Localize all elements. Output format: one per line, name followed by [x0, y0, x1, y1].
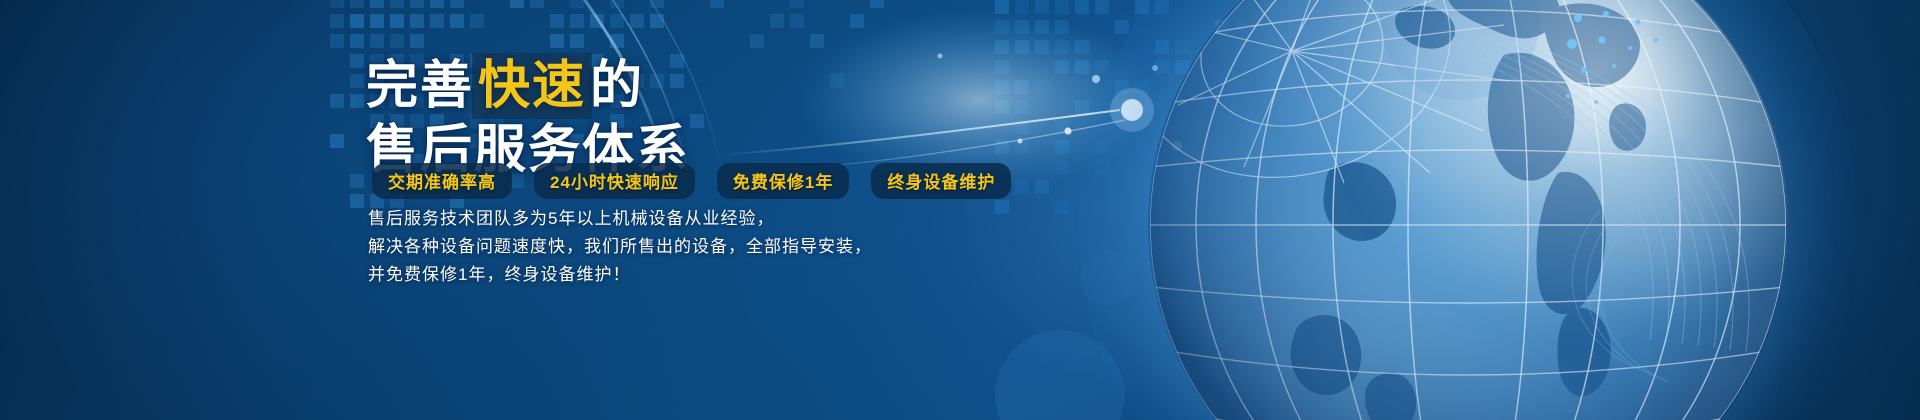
pixel-square	[1055, 0, 1069, 14]
pixel-square	[1155, 40, 1169, 54]
pixel-square	[1055, 200, 1069, 214]
pixel-square	[1095, 0, 1109, 14]
soft-circle-decoration	[1080, 250, 1136, 306]
headline-highlight: 快速	[474, 55, 590, 117]
pixel-square	[1015, 100, 1029, 114]
pixel-square	[1155, 60, 1169, 74]
pixel-square	[1155, 0, 1169, 14]
pixel-square	[1075, 100, 1089, 114]
soft-circle-decoration	[995, 330, 1125, 420]
pixel-square	[1135, 80, 1149, 94]
pixel-square	[1135, 0, 1149, 14]
pixel-square	[1055, 20, 1069, 34]
pixel-square	[1015, 20, 1029, 34]
pixel-square	[1115, 100, 1129, 114]
feature-badge-list: 交期准确率高 24小时快速响应 免费保修1年 终身设备维护	[372, 163, 1011, 199]
pixel-square	[1015, 40, 1029, 54]
pixel-square	[1155, 160, 1169, 174]
pixel-square	[1115, 20, 1129, 34]
pixel-square	[1235, 40, 1249, 54]
pixel-square	[1175, 40, 1189, 54]
pixel-square	[1015, 120, 1029, 134]
feature-badge[interactable]: 24小时快速响应	[534, 163, 695, 199]
pixel-square	[1035, 80, 1049, 94]
pixel-square	[1035, 20, 1049, 34]
pixel-square	[1215, 40, 1229, 54]
banner-content: 完善快速的 售后服务体系 交期准确率高 24小时快速响应 免费保修1年 终身设备…	[0, 0, 1000, 420]
pixel-square	[1135, 100, 1149, 114]
pixel-square	[1055, 120, 1069, 134]
feature-badge[interactable]: 免费保修1年	[717, 163, 849, 199]
soft-circle-decoration	[1380, 0, 1540, 100]
feature-badge[interactable]: 终身设备维护	[871, 163, 1011, 199]
pixel-square	[1015, 180, 1029, 194]
headline-block: 完善快速的 售后服务体系	[366, 58, 1006, 178]
pixel-square	[1075, 60, 1089, 74]
pixel-square	[1095, 160, 1109, 174]
feature-badge[interactable]: 交期准确率高	[372, 163, 512, 199]
description-line: 解决各种设备问题速度快，我们所售出的设备，全部指导安装，	[368, 234, 928, 259]
pixel-square	[1055, 40, 1069, 54]
headline-text-after: 的	[590, 57, 644, 115]
pixel-square	[1055, 140, 1069, 154]
pixel-square	[1175, 60, 1189, 74]
pixel-square	[1035, 0, 1049, 14]
pixel-square	[1035, 40, 1049, 54]
pixel-square	[1095, 140, 1109, 154]
pixel-square	[1235, 20, 1249, 34]
pixel-square	[1215, 20, 1229, 34]
headline-text-before: 完善	[366, 57, 474, 115]
pixel-square	[1015, 0, 1029, 14]
pixel-square	[1095, 60, 1109, 74]
service-hero-banner: 完善快速的 售后服务体系 交期准确率高 24小时快速响应 免费保修1年 终身设备…	[0, 0, 1920, 420]
pixel-square	[1035, 180, 1049, 194]
pixel-square	[1015, 80, 1029, 94]
pixel-square	[1075, 0, 1089, 14]
description-line: 售后服务技术团队多为5年以上机械设备从业经验，	[368, 206, 928, 231]
pixel-square	[1055, 60, 1069, 74]
pixel-square	[1015, 140, 1029, 154]
pixel-square	[1115, 80, 1129, 94]
pixel-square	[1055, 160, 1069, 174]
dot-cluster-decoration	[1560, 10, 1700, 120]
description-line: 并免费保修1年，终身设备维护！	[368, 262, 928, 287]
pixel-square	[1075, 40, 1089, 54]
headline-line-1: 完善快速的	[366, 58, 1006, 114]
pixel-square	[1175, 120, 1189, 134]
pixel-grid-decoration-secondary	[995, 0, 1295, 215]
description-paragraph: 售后服务技术团队多为5年以上机械设备从业经验， 解决各种设备问题速度快，我们所售…	[368, 206, 928, 287]
